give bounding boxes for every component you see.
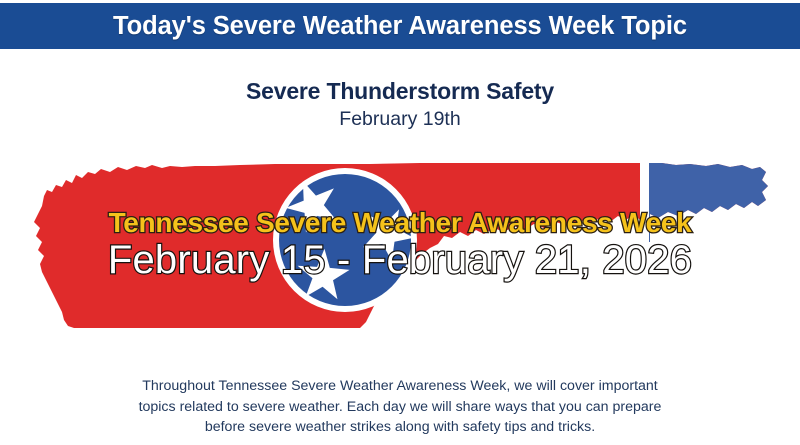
weather-awareness-graphic: Today's Severe Weather Awareness Week To…: [0, 0, 800, 445]
footer-caption-line-1: Throughout Tennessee Severe Weather Awar…: [92, 376, 708, 397]
tennessee-map-graphic: [0, 150, 800, 335]
footer-caption-line-3: before severe weather strikes along with…: [92, 417, 708, 438]
topic-title: Severe Thunderstorm Safety: [0, 78, 800, 104]
footer-caption-line-2: topics related to severe weather. Each d…: [92, 397, 708, 418]
footer: NOAA Throughout Tennessee Severe Weather…: [0, 366, 800, 445]
footer-caption: Throughout Tennessee Severe Weather Awar…: [92, 376, 708, 438]
topic-block: Severe Thunderstorm Safety February 19th: [0, 78, 800, 132]
header-title: Today's Severe Weather Awareness Week To…: [113, 12, 687, 41]
topic-date: February 19th: [0, 106, 800, 132]
header-banner: Today's Severe Weather Awareness Week To…: [0, 3, 800, 49]
